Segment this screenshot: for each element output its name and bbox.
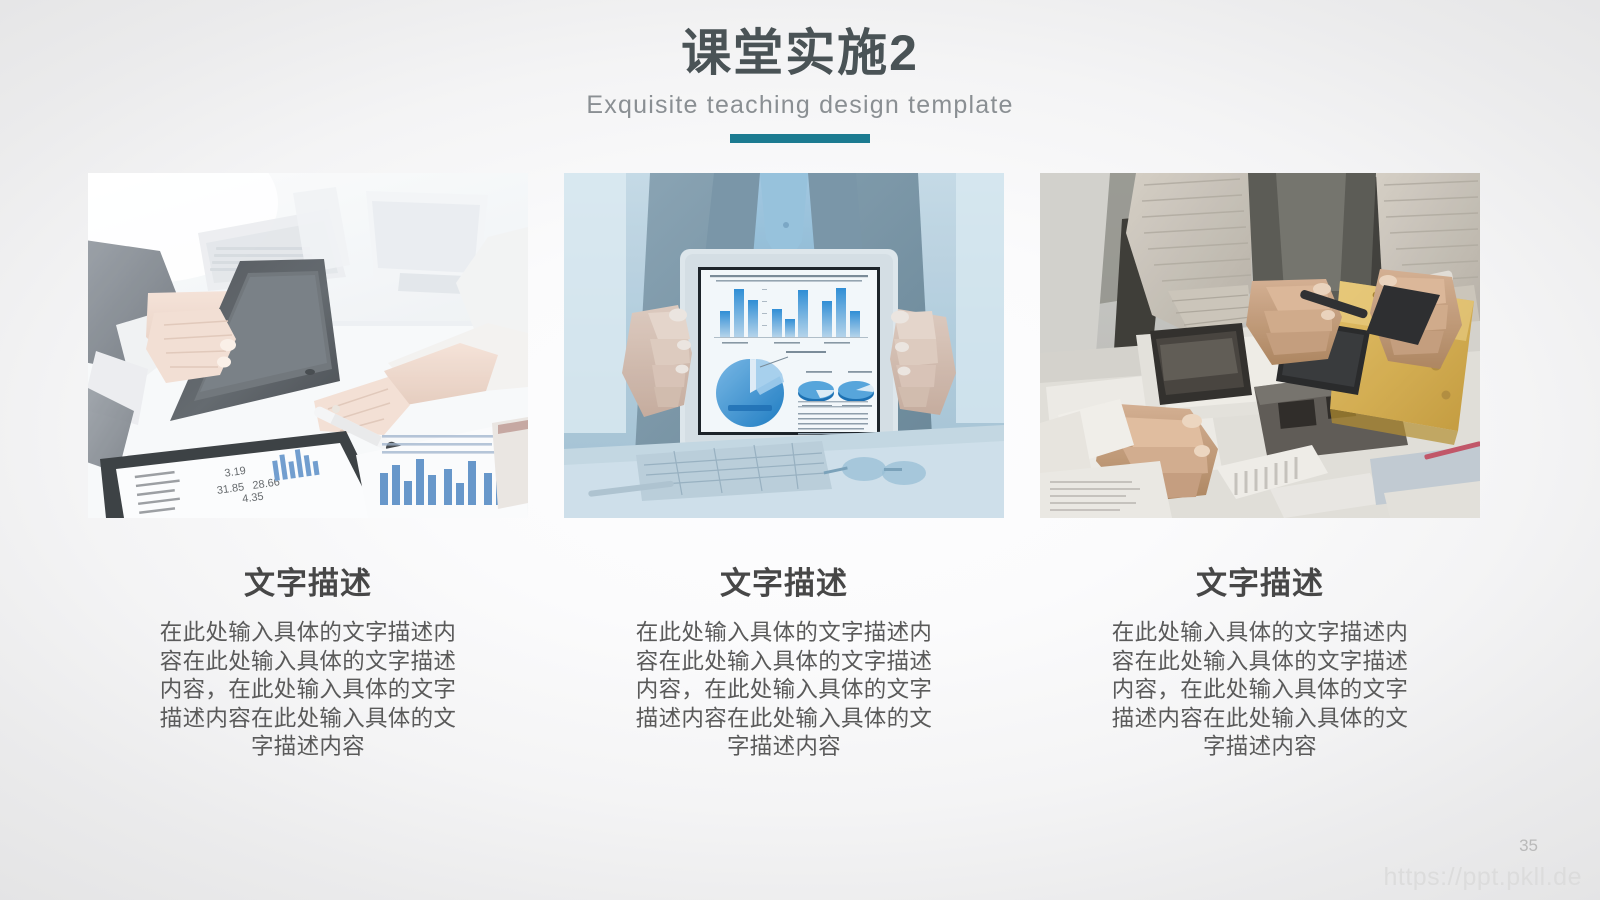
content-column-3: 文字描述 在此处输入具体的文字描述内容在此处输入具体的文字描述内容，在此处输入具… [1040,173,1480,762]
page-subtitle: Exquisite teaching design template [0,91,1600,120]
photo-person-holding-tablet-charts[interactable] [564,173,1004,518]
slide: 课堂实施2 Exquisite teaching design template [0,0,1600,900]
card-title: 文字描述 [720,568,848,599]
card-title: 文字描述 [1196,568,1324,599]
content-column-1: 3.19 31.85 4.35 28.66 [88,173,528,762]
content-columns: 3.19 31.85 4.35 28.66 [88,173,1480,762]
photo-hands-desk-documents-envelope[interactable] [1040,173,1480,518]
watermark: https://ppt.pkll.de [1383,863,1582,892]
slide-header: 课堂实施2 Exquisite teaching design template [0,24,1600,143]
title-accent-rule [730,134,870,143]
photo-business-meeting-tablet-reports[interactable]: 3.19 31.85 4.35 28.66 [88,173,528,518]
card-body-text: 在此处输入具体的文字描述内容在此处输入具体的文字描述内容，在此处输入具体的文字描… [634,619,934,762]
page-number: 35 [1519,836,1538,856]
content-column-2: 文字描述 在此处输入具体的文字描述内容在此处输入具体的文字描述内容，在此处输入具… [564,173,1004,762]
card-body-text: 在此处输入具体的文字描述内容在此处输入具体的文字描述内容，在此处输入具体的文字描… [158,619,458,762]
card-body-text: 在此处输入具体的文字描述内容在此处输入具体的文字描述内容，在此处输入具体的文字描… [1110,619,1410,762]
page-title: 课堂实施2 [0,24,1600,83]
card-title: 文字描述 [244,568,372,599]
